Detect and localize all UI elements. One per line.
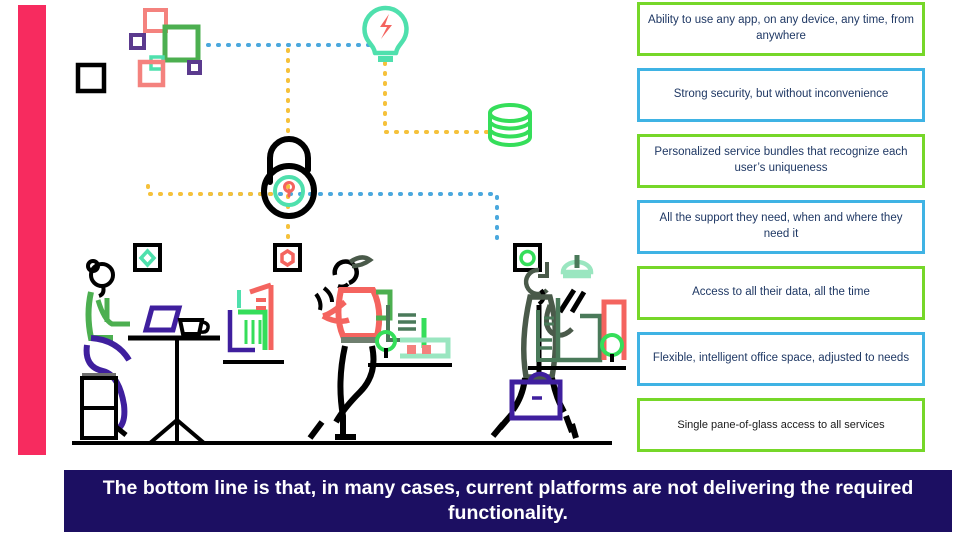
expectation-box-4[interactable]: All the support they need, when and wher…: [637, 200, 925, 254]
expectation-text: Ability to use any app, on any device, a…: [648, 13, 914, 44]
bottom-line-text: The bottom line is that, in many cases, …: [90, 476, 926, 527]
city-skyline-graphic: [528, 255, 626, 368]
slide-canvas: Employee expectations: [0, 0, 960, 536]
expectation-box-7[interactable]: Single pane-of-glass access to all servi…: [637, 398, 925, 452]
scattered-squares-cluster: [78, 10, 200, 91]
expectation-text: Strong security, but without inconvenien…: [674, 87, 889, 103]
expectations-list: Ability to use any app, on any device, a…: [637, 2, 925, 464]
expectation-text: All the support they need, when and wher…: [648, 211, 914, 242]
expectation-box-6[interactable]: Flexible, intelligent office space, adju…: [637, 332, 925, 386]
dotted-line-blue: [208, 45, 497, 245]
padlock-icon: [264, 139, 314, 216]
expectation-text: Flexible, intelligent office space, adju…: [653, 351, 909, 367]
illustration: [60, 0, 630, 460]
expectation-box-3[interactable]: Personalized service bundles that recogn…: [637, 134, 925, 188]
expectation-box-2[interactable]: Strong security, but without inconvenien…: [637, 68, 925, 122]
expectation-text: Personalized service bundles that recogn…: [648, 145, 914, 176]
expectation-text: Access to all their data, all the time: [692, 285, 870, 301]
seated-person-with-laptop: [82, 261, 220, 443]
walking-person-with-phone: [310, 257, 390, 440]
expectation-text: Single pane-of-glass access to all servi…: [677, 418, 884, 433]
node-square-hexagon: [275, 245, 300, 270]
bottom-line-banner: The bottom line is that, in many cases, …: [64, 470, 952, 532]
node-square-circle: [515, 245, 540, 270]
expectation-box-5[interactable]: Access to all their data, all the time: [637, 266, 925, 320]
dotted-line-amber: [148, 50, 488, 246]
chair-and-window-graphic: [223, 285, 284, 362]
node-square-diamond: [135, 245, 160, 270]
lightbulb-icon: [365, 8, 407, 62]
expectation-box-1[interactable]: Ability to use any app, on any device, a…: [637, 2, 925, 56]
database-icon: [490, 105, 530, 145]
sidebar-accent-bar: [18, 5, 46, 455]
